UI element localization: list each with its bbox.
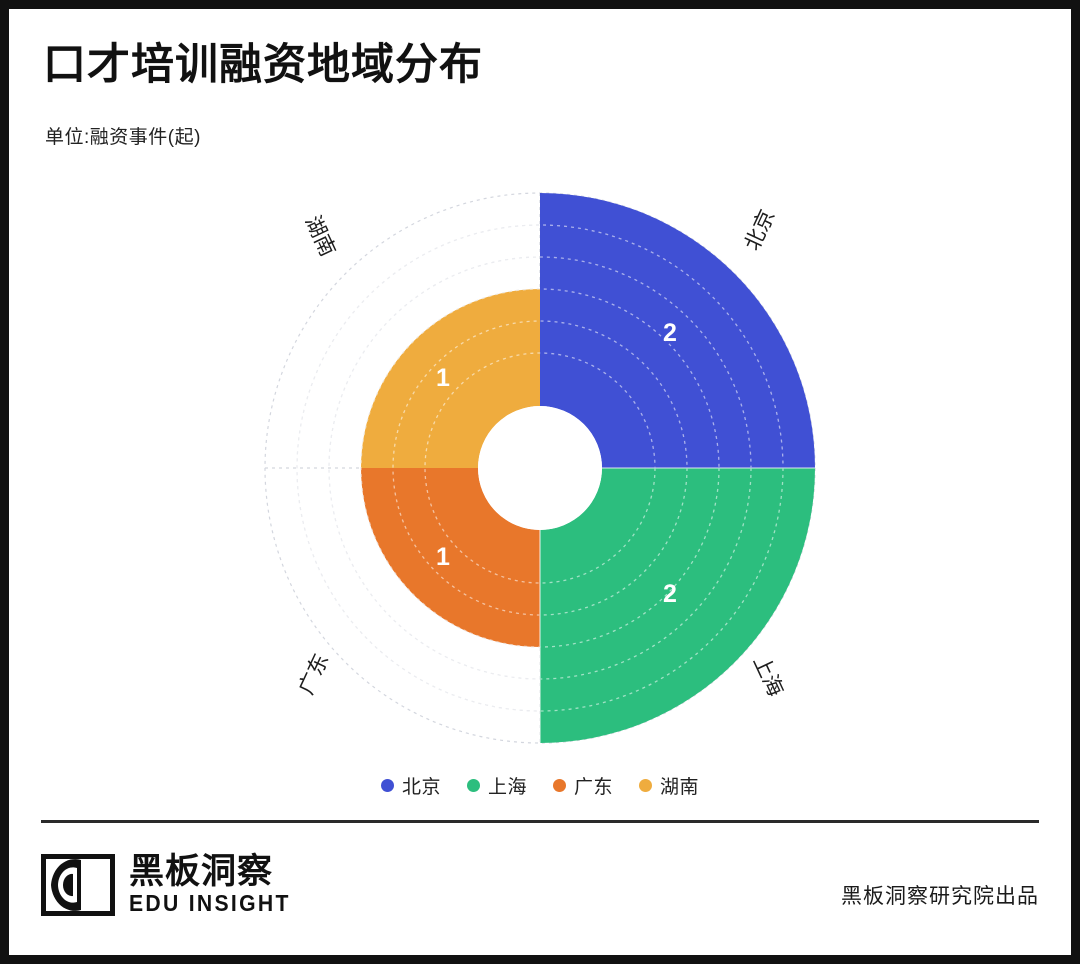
axis-label-shanghai: 上海 — [749, 652, 788, 700]
legend-swatch-icon — [467, 779, 480, 792]
polar-chart-svg: 2 2 1 1 北京 上海 广东 湖南 — [9, 159, 1071, 759]
page-title: 口才培训融资地域分布 — [43, 30, 483, 92]
footer-divider — [41, 820, 1039, 823]
frame-border-left — [0, 0, 9, 964]
legend-label: 广东 — [574, 772, 613, 799]
sector-value-beijing: 2 — [663, 319, 677, 347]
legend-item-beijing[interactable]: 北京 — [381, 772, 441, 799]
brand-lockup: 黑板洞察 EDU INSIGHT — [41, 854, 305, 916]
polar-chart: 2 2 1 1 北京 上海 广东 湖南 — [9, 159, 1071, 759]
chart-canvas: 口才培训融资地域分布 单位:融资事件(起) — [0, 0, 1080, 964]
brand-name-cn: 黑板洞察 — [129, 854, 305, 891]
legend-swatch-icon — [639, 779, 652, 792]
legend-label: 湖南 — [660, 772, 699, 799]
brand-name-en: EDU INSIGHT — [129, 891, 291, 916]
chart-inner-area: 口才培训融资地域分布 单位:融资事件(起) — [9, 9, 1071, 955]
legend-label: 北京 — [402, 772, 441, 799]
chart-subtitle: 单位:融资事件(起) — [45, 122, 201, 149]
axis-label-beijing: 北京 — [741, 206, 780, 254]
edu-insight-eye-logo-icon — [41, 854, 115, 916]
legend-label: 上海 — [488, 772, 527, 799]
legend-item-hunan[interactable]: 湖南 — [639, 772, 699, 799]
sector-value-shanghai: 2 — [663, 580, 677, 608]
legend-item-guangdong[interactable]: 广东 — [553, 772, 613, 799]
frame-border-top — [0, 0, 1080, 9]
footer-credit: 黑板洞察研究院出品 — [841, 880, 1039, 910]
polar-center-hole — [478, 406, 602, 530]
legend-swatch-icon — [381, 779, 394, 792]
axis-label-hunan: 湖南 — [301, 212, 340, 260]
sector-value-hunan: 1 — [436, 364, 450, 392]
axis-label-guangdong: 广东 — [295, 650, 334, 698]
frame-border-bottom — [0, 955, 1080, 964]
footer: 黑板洞察 EDU INSIGHT 黑板洞察研究院出品 — [41, 842, 1039, 942]
frame-border-right — [1071, 0, 1080, 964]
sector-value-guangdong: 1 — [436, 543, 450, 571]
chart-legend: 北京 上海 广东 湖南 — [9, 772, 1071, 799]
brand-text: 黑板洞察 EDU INSIGHT — [129, 854, 305, 916]
legend-swatch-icon — [553, 779, 566, 792]
legend-item-shanghai[interactable]: 上海 — [467, 772, 527, 799]
